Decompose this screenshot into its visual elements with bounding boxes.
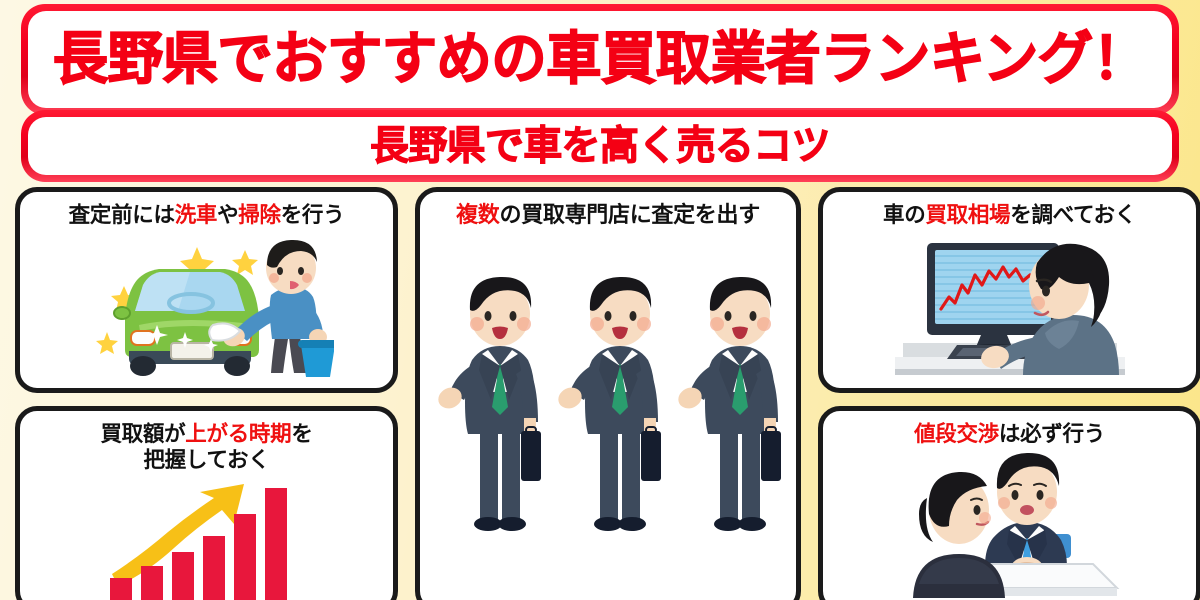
card-market-price: 車の買取相場を調べておく <box>818 187 1200 393</box>
businessman-figure <box>554 277 660 531</box>
title-part: の買取専門店に査定を出す <box>500 203 760 228</box>
card-price-timing: 買取額が上がる時期を 把握しておく <box>15 406 398 600</box>
main-title-text: 長野県でおすすめの車買取業者ランキング！ <box>53 31 1147 88</box>
card-market-price-title: 車の買取相場を調べておく <box>875 192 1144 228</box>
title-part: 査定前には <box>69 203 175 228</box>
card-car-wash-title: 査定前には洗車や掃除を行う <box>61 192 353 228</box>
card-multiple-quotes-title: 複数の買取専門店に査定を出す <box>448 192 768 229</box>
sub-title-banner: 長野県で車を高く売るコツ <box>28 117 1172 175</box>
bar <box>265 488 287 600</box>
bar <box>110 578 132 600</box>
infographic-page: 長野県でおすすめの車買取業者ランキング！ 長野県で車を高く売るコツ 査定前には洗… <box>0 0 1200 600</box>
title-part: 買取額が <box>100 422 185 447</box>
card-multiple-quotes: 複数の買取専門店に査定を出す <box>415 187 801 600</box>
tips-card-grid: 査定前には洗車や掃除を行う <box>14 187 1186 600</box>
negotiation-meeting-illustration <box>823 448 1196 600</box>
card-negotiation-title: 値段交渉は必ず行う <box>906 411 1113 447</box>
title-part: は必ず行う <box>999 422 1105 447</box>
bar-series <box>110 488 287 600</box>
three-businessmen-illustration <box>420 229 796 600</box>
title-part: を <box>291 422 312 447</box>
car-wash-illustration <box>20 228 393 388</box>
title-part: や <box>217 203 238 228</box>
title-highlight: 買取相場 <box>925 203 1010 228</box>
person-at-computer-illustration <box>823 228 1196 388</box>
sub-title-text: 長野県で車を高く売るコツ <box>370 126 830 166</box>
title-highlight: 複数 <box>456 203 499 228</box>
rising-bar-chart-illustration <box>20 473 393 600</box>
main-title-banner: 長野県でおすすめの車買取業者ランキング！ <box>28 11 1172 108</box>
title-part: を調べておく <box>1010 203 1136 228</box>
businessman-figure <box>674 277 780 531</box>
title-part: 車の <box>883 203 925 228</box>
title-line-1: 買取額が上がる時期を <box>100 422 312 447</box>
bar <box>141 566 163 600</box>
title-highlight: 上がる時期 <box>185 422 291 447</box>
card-price-timing-title: 買取額が上がる時期を 把握しておく <box>92 411 320 473</box>
title-part: を行う <box>281 203 345 228</box>
card-negotiation: 値段交渉は必ず行う <box>818 406 1200 600</box>
dealer-person <box>985 453 1067 579</box>
customer-person <box>913 472 1005 598</box>
bar <box>203 536 225 600</box>
green-car <box>114 269 259 376</box>
card-car-wash: 査定前には洗車や掃除を行う <box>15 187 398 393</box>
title-line-2: 把握しておく <box>100 448 312 473</box>
businessman-figure <box>436 277 541 531</box>
title-highlight: 洗車 <box>175 203 217 228</box>
title-highlight: 値段交渉 <box>914 422 999 447</box>
title-highlight: 掃除 <box>238 203 280 228</box>
bar <box>172 552 194 600</box>
bar <box>234 514 256 600</box>
